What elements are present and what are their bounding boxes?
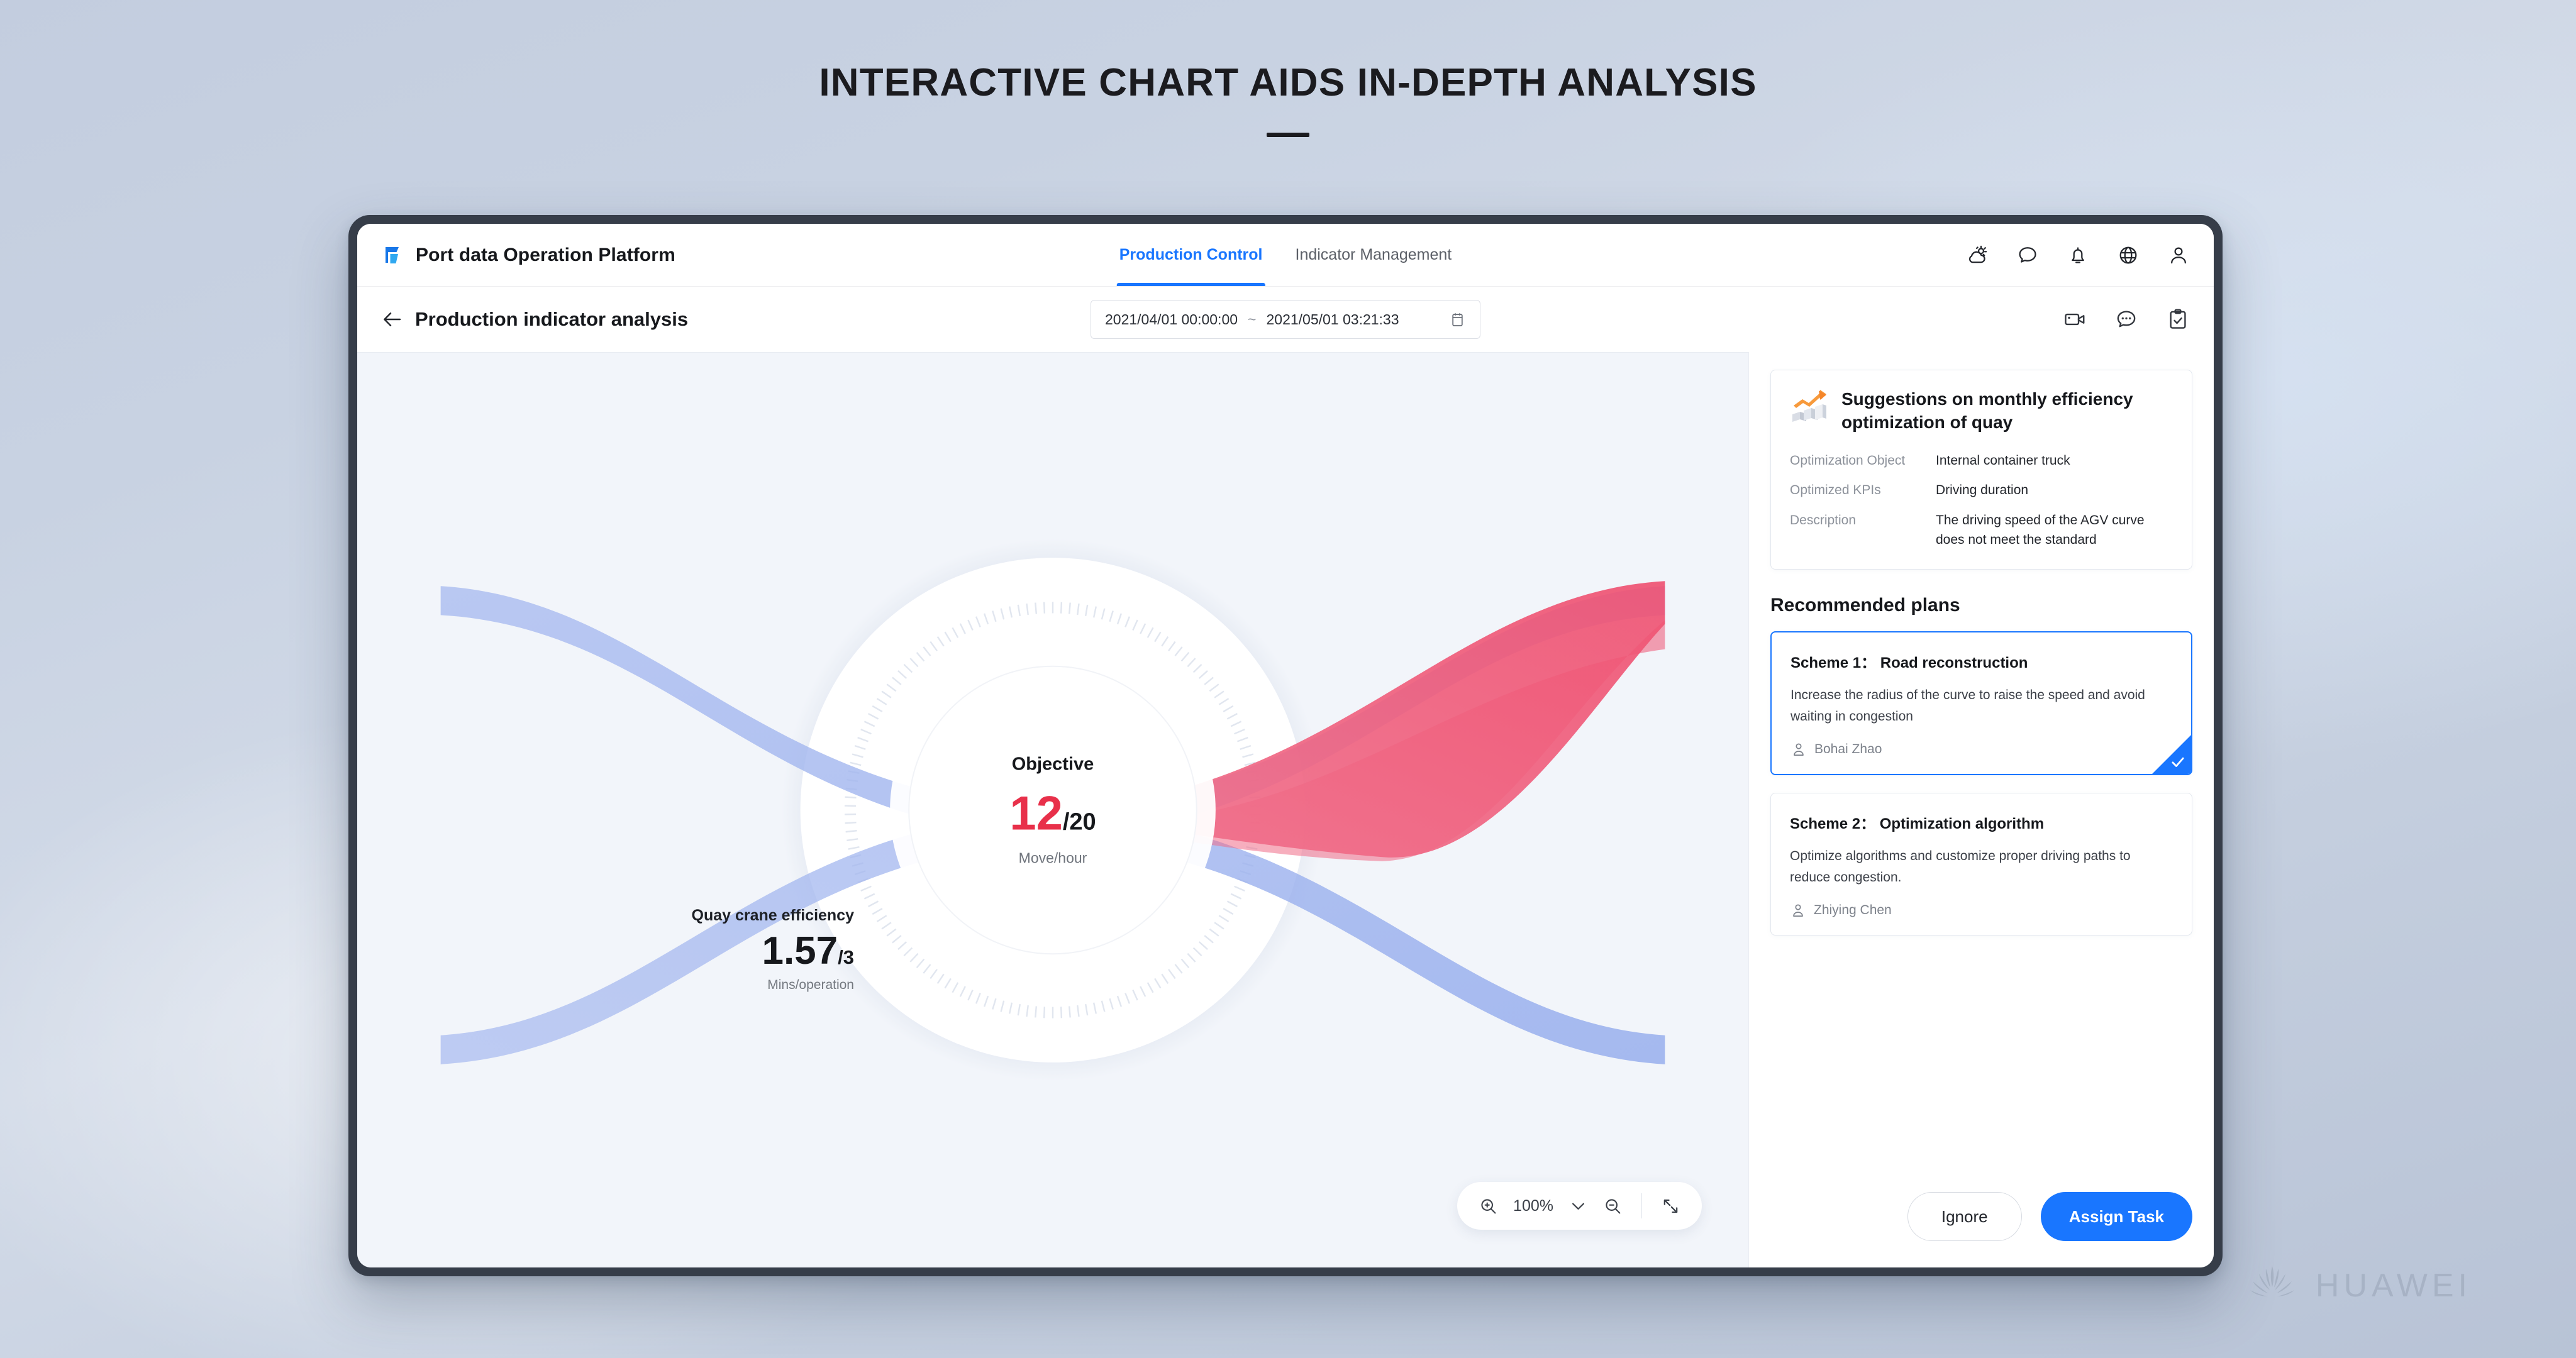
- plan-description: Increase the radius of the curve to rais…: [1790, 685, 2172, 727]
- person-icon: [1790, 741, 1807, 758]
- plan-title: Scheme 1： Road reconstruction: [1790, 650, 2172, 672]
- tab-production-control[interactable]: Production Control: [1117, 224, 1265, 286]
- detail-value: The driving speed of the AGV curve does …: [1936, 511, 2173, 550]
- growth-chart-icon: [1790, 388, 1829, 423]
- device-frame: Port data Operation Platform Production …: [348, 215, 2223, 1276]
- plan-owner: Zhiying Chen: [1790, 902, 2173, 919]
- panel-footer: Ignore Assign Task: [1770, 1171, 2192, 1267]
- plan-description: Optimize algorithms and customize proper…: [1790, 846, 2173, 888]
- suggestion-title: Suggestions on monthly efficiency optimi…: [1841, 388, 2173, 434]
- nav-tabs: Production Control Indicator Management: [1117, 224, 1455, 286]
- recommended-plans-heading: Recommended plans: [1770, 595, 2192, 616]
- topbar-icons: [1966, 244, 2190, 267]
- fullscreen-icon[interactable]: [1661, 1196, 1680, 1216]
- assign-task-button[interactable]: Assign Task: [2041, 1192, 2192, 1241]
- back-arrow-icon[interactable]: [381, 308, 404, 331]
- sub-header: Production indicator analysis 2021/04/01…: [357, 287, 2214, 352]
- suggestion-card: Suggestions on monthly efficiency optimi…: [1770, 370, 2192, 570]
- tab-indicator-management[interactable]: Indicator Management: [1292, 224, 1454, 286]
- ignore-button[interactable]: Ignore: [1907, 1192, 2022, 1241]
- app-topbar: Port data Operation Platform Production …: [357, 224, 2214, 287]
- plan-card-scheme-1[interactable]: Scheme 1： Road reconstruction Increase t…: [1770, 631, 2192, 775]
- objective-unit: Move/hour: [921, 849, 1185, 866]
- brand: Port data Operation Platform: [381, 243, 675, 267]
- detail-value: Internal container truck: [1936, 451, 2173, 471]
- plan-owner-name: Bohai Zhao: [1814, 742, 1882, 757]
- detail-key: Optimization Object: [1790, 451, 1936, 471]
- chart-canvas[interactable]: Objective 12/20 Move/hour Quay crane eff…: [357, 352, 1748, 1267]
- plan-title: Scheme 2： Optimization algorithm: [1790, 811, 2173, 833]
- objective-value: 12: [1009, 787, 1063, 840]
- bell-icon[interactable]: [2067, 244, 2089, 267]
- page-title: INTERACTIVE CHART AIDS IN-DEPTH ANALYSIS: [0, 60, 2576, 105]
- objective-center: Objective 12/20 Move/hour: [921, 754, 1185, 866]
- calendar-icon[interactable]: [1449, 311, 1466, 328]
- zoom-control: 100%: [1457, 1182, 1702, 1230]
- comment-icon[interactable]: [2114, 307, 2138, 331]
- port-logo-icon: [381, 243, 405, 267]
- check-icon: [2170, 754, 2186, 770]
- date-range-separator: ~: [1248, 311, 1256, 328]
- page-header: INTERACTIVE CHART AIDS IN-DEPTH ANALYSIS: [0, 60, 2576, 137]
- page-subtitle: Production indicator analysis: [415, 308, 688, 331]
- zoom-out-icon[interactable]: [1603, 1196, 1623, 1216]
- metric-unit: Mins/operation: [615, 978, 854, 993]
- metric-label: Quay crane efficiency: [615, 906, 854, 925]
- suggestion-header: Suggestions on monthly efficiency optimi…: [1790, 388, 2173, 434]
- objective-target: /20: [1063, 809, 1096, 835]
- back-group: Production indicator analysis: [381, 308, 688, 331]
- zoom-divider: [1641, 1193, 1642, 1218]
- detail-row: Optimized KPIs Driving duration: [1790, 480, 2173, 500]
- plan-owner: Bohai Zhao: [1790, 741, 2172, 758]
- plan-owner-name: Zhiying Chen: [1814, 903, 1892, 918]
- zoom-in-icon[interactable]: [1479, 1196, 1498, 1216]
- title-divider: [1267, 133, 1309, 137]
- huawei-wordmark: HUAWEI: [2316, 1267, 2472, 1305]
- huawei-watermark: HUAWEI: [2245, 1264, 2472, 1308]
- detail-value: Driving duration: [1936, 480, 2173, 500]
- metric-quay-crane-efficiency[interactable]: Quay crane efficiency 1.57/3 Mins/operat…: [615, 906, 854, 993]
- detail-key: Optimized KPIs: [1790, 480, 1936, 500]
- detail-key: Description: [1790, 511, 1936, 550]
- metric-value: 1.57: [762, 929, 838, 973]
- app-body: Objective 12/20 Move/hour Quay crane eff…: [357, 352, 2214, 1267]
- detail-row: Description The driving speed of the AGV…: [1790, 511, 2173, 550]
- objective-label: Objective: [921, 754, 1185, 775]
- objective-value-row: 12/20: [921, 786, 1185, 841]
- date-range-end: 2021/05/01 03:21:33: [1266, 311, 1399, 328]
- user-icon[interactable]: [2167, 244, 2190, 267]
- video-icon[interactable]: [2063, 307, 2087, 331]
- huawei-flower-icon: [2245, 1264, 2299, 1308]
- brand-name: Port data Operation Platform: [416, 245, 675, 266]
- app-screen: Port data Operation Platform Production …: [357, 224, 2214, 1267]
- sub-header-actions: [2063, 307, 2190, 331]
- suggestion-details: Optimization Object Internal container t…: [1790, 451, 2173, 550]
- zoom-level: 100%: [1513, 1197, 1553, 1215]
- metric-value-row: 1.57/3: [615, 930, 854, 973]
- globe-icon[interactable]: [2117, 244, 2140, 267]
- metric-target: /3: [838, 946, 854, 968]
- plan-card-scheme-2[interactable]: Scheme 2： Optimization algorithm Optimiz…: [1770, 793, 2192, 936]
- person-icon: [1790, 902, 1806, 919]
- chevron-down-icon[interactable]: [1568, 1196, 1588, 1216]
- date-range-start: 2021/04/01 00:00:00: [1105, 311, 1238, 328]
- detail-row: Optimization Object Internal container t…: [1790, 451, 2173, 471]
- insight-panel: Suggestions on monthly efficiency optimi…: [1748, 352, 2214, 1267]
- chat-icon[interactable]: [2016, 244, 2039, 267]
- date-range-picker[interactable]: 2021/04/01 00:00:00 ~ 2021/05/01 03:21:3…: [1091, 300, 1480, 339]
- clipboard-check-icon[interactable]: [2166, 307, 2190, 331]
- weather-icon[interactable]: [1966, 244, 1989, 267]
